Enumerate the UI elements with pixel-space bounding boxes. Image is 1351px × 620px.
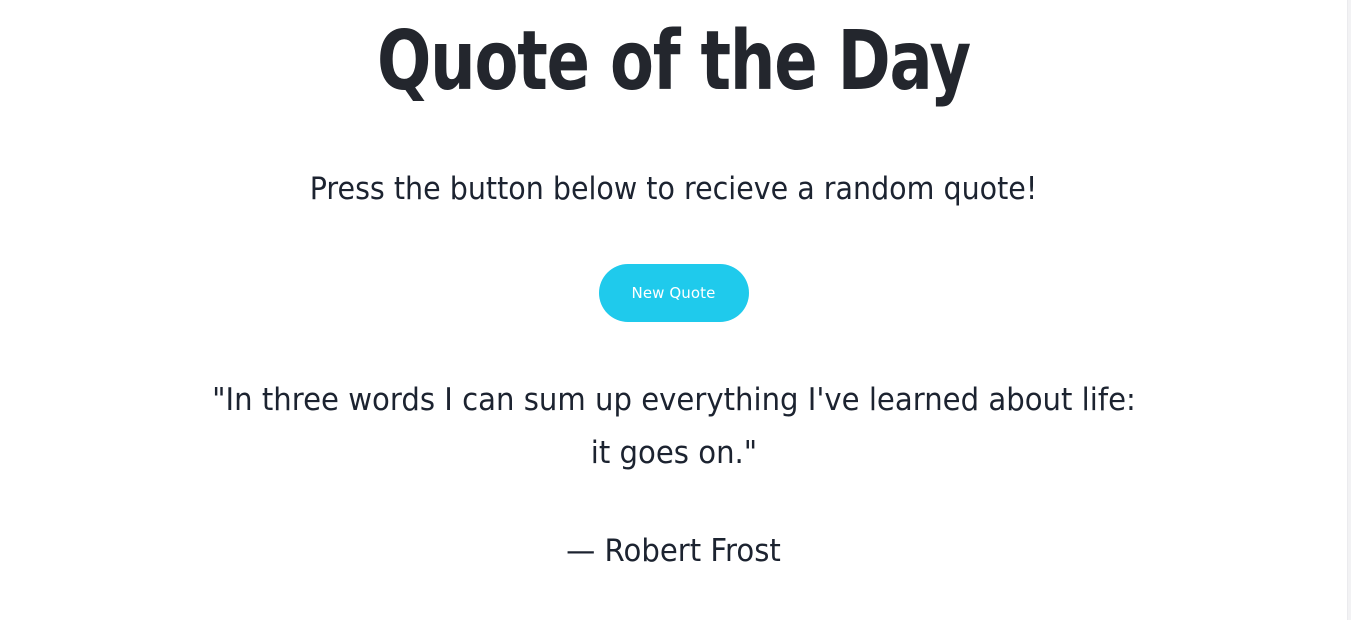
quote-block: "In three words I can sum up everything … [0, 374, 1347, 480]
new-quote-button[interactable]: New Quote [599, 264, 749, 322]
vertical-scrollbar[interactable] [1347, 0, 1351, 620]
quote-author: — Robert Frost [40, 528, 1306, 574]
button-row: New Quote [0, 264, 1347, 322]
quote-text: "In three words I can sum up everything … [204, 374, 1144, 480]
page-title: Quote of the Day [148, 12, 1199, 112]
page-content: Quote of the Day Press the button below … [0, 0, 1347, 620]
instructions-text: Press the button below to recieve a rand… [54, 166, 1293, 212]
quote-of-the-day-page: Quote of the Day Press the button below … [0, 0, 1351, 620]
